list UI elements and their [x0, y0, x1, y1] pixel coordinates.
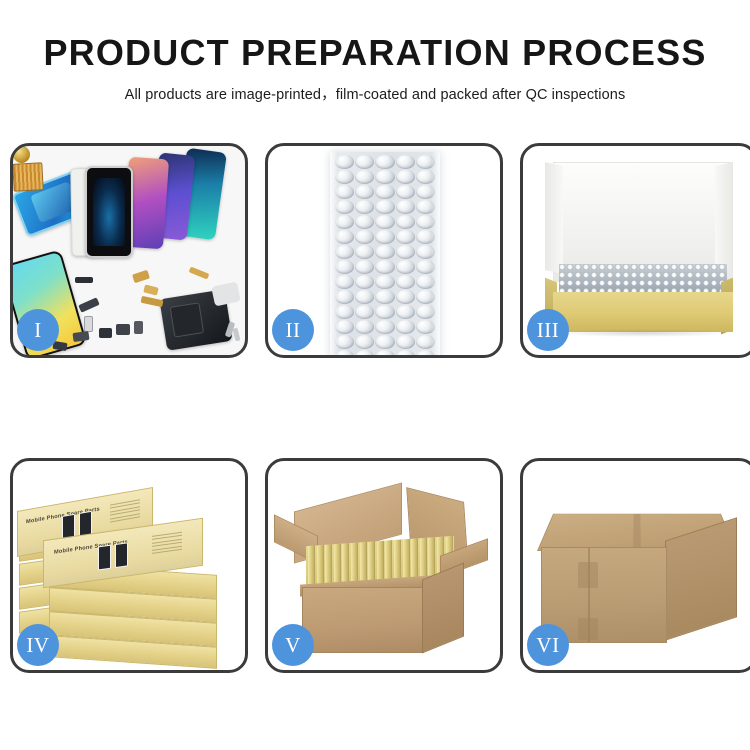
bubble: [396, 275, 415, 289]
bubble: [396, 215, 415, 229]
step-badge-4: IV: [17, 624, 59, 666]
bubble: [396, 260, 415, 274]
bubble: [355, 290, 374, 304]
bubble-grid: [335, 155, 435, 355]
bubble: [396, 350, 415, 355]
bubble: [375, 350, 394, 355]
bubble: [375, 335, 394, 349]
step-panel-3: III: [520, 143, 750, 358]
step-panel-1: I: [10, 143, 248, 358]
bubble-wrap-pouch: [330, 152, 440, 355]
bubble: [375, 245, 394, 259]
bubble: [375, 170, 394, 184]
spare-part: [75, 277, 93, 283]
spare-part: [78, 297, 100, 312]
spare-part: [143, 284, 159, 295]
bubble: [355, 215, 374, 229]
bubble: [396, 170, 415, 184]
bubble: [375, 260, 394, 274]
carton-handle-tab-top: [578, 562, 598, 588]
bubble: [375, 275, 394, 289]
bubble: [375, 305, 394, 319]
steps-grid: I II: [10, 143, 740, 673]
bubble: [355, 230, 374, 244]
page-subtitle: All products are image-printed，film-coat…: [0, 83, 750, 104]
header: PRODUCT PREPARATION PROCESS All products…: [0, 0, 750, 104]
box-spec-lines: [110, 499, 140, 525]
step-badge-2: II: [272, 309, 314, 351]
bubble: [375, 320, 394, 334]
spare-part: [84, 316, 93, 332]
bubble: [396, 320, 415, 334]
bubble: [375, 155, 394, 169]
bubble: [355, 170, 374, 184]
carton-handle-tab-bottom: [578, 618, 598, 640]
spare-part: [233, 328, 241, 342]
bubble: [375, 290, 394, 304]
bubble: [396, 200, 415, 214]
bubble: [396, 155, 415, 169]
step-panel-6: VI: [520, 458, 750, 673]
bubble: [396, 305, 415, 319]
bubble: [396, 290, 415, 304]
bubble: [375, 200, 394, 214]
spare-part: [99, 328, 112, 338]
step-badge-3: III: [527, 309, 569, 351]
bubble: [355, 155, 374, 169]
bubble: [355, 200, 374, 214]
bubble: [396, 245, 415, 259]
carton-front-panel: [302, 587, 424, 653]
bubble: [396, 230, 415, 244]
bubble: [355, 185, 374, 199]
bubble: [355, 275, 374, 289]
flex-cable-coil: [13, 162, 44, 192]
carton-tape-seam: [633, 514, 641, 550]
bubble: [355, 260, 374, 274]
step-panel-5: V: [265, 458, 503, 673]
step-badge-1: I: [17, 309, 59, 351]
black-front-glass: [85, 166, 133, 258]
box-lid-flap-right: [715, 162, 733, 274]
bubble: [396, 335, 415, 349]
pouch-edge-right: [431, 152, 440, 355]
spare-part: [72, 331, 89, 342]
bubble: [396, 185, 415, 199]
step-panel-2: II: [265, 143, 503, 358]
bubble: [355, 335, 374, 349]
pouch-edge-left: [330, 152, 339, 355]
step-panel-4: Mobile Phone Spare PartsMobile Phone Spa…: [10, 458, 248, 673]
box-lid-flap-left: [545, 162, 563, 274]
page-title: PRODUCT PREPARATION PROCESS: [0, 33, 750, 73]
spare-part: [134, 321, 143, 334]
camera-ring-part: [13, 146, 30, 163]
bubble: [355, 245, 374, 259]
bubble: [355, 320, 374, 334]
spare-part: [116, 324, 130, 335]
spare-part: [189, 266, 210, 279]
box-artwork-phone: [98, 545, 111, 571]
box-contents-bubble-wrap: [559, 264, 727, 294]
spare-part: [141, 296, 164, 307]
bubble-texture: [559, 264, 727, 294]
bubble: [355, 305, 374, 319]
box-shadow: [557, 329, 729, 337]
box-front-panel: [553, 292, 733, 332]
spare-part: [132, 270, 150, 284]
bubble: [375, 230, 394, 244]
spare-part: [211, 282, 241, 307]
carton-side-panel: [422, 563, 464, 654]
bubble: [375, 215, 394, 229]
bubble: [375, 185, 394, 199]
step-badge-5: V: [272, 624, 314, 666]
product-preparation-infographic: PRODUCT PREPARATION PROCESS All products…: [0, 0, 750, 750]
box-spec-lines: [152, 532, 182, 557]
bubble: [355, 350, 374, 355]
step-badge-6: VI: [527, 624, 569, 666]
box-artwork-phone: [115, 542, 128, 568]
